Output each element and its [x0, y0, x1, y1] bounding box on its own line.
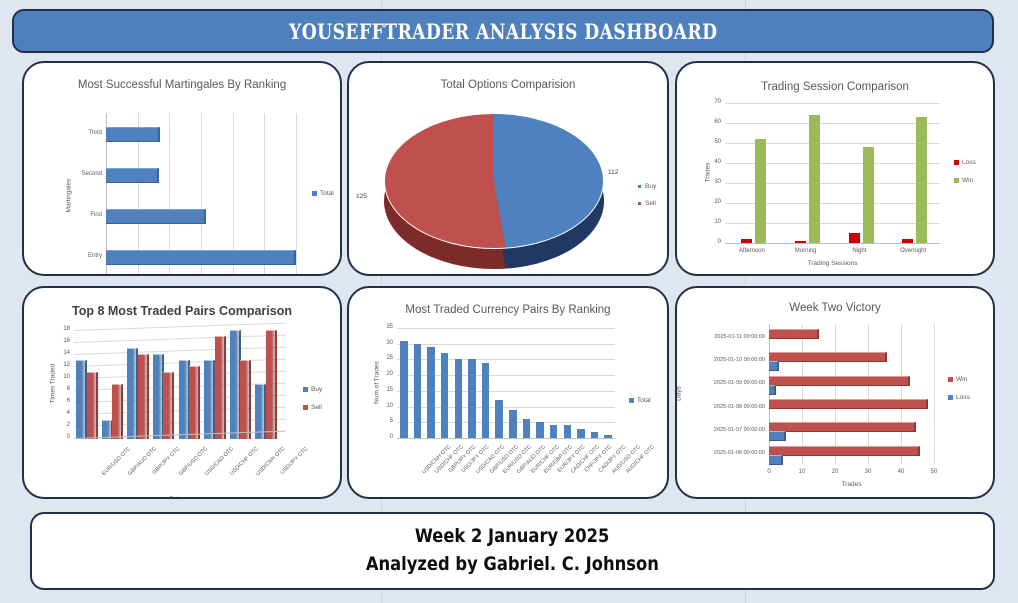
y-axis-tick: 2025-01-08 00:00:00	[681, 404, 765, 410]
y-axis-tick: 18	[54, 326, 70, 332]
pie-top-face	[384, 113, 604, 249]
chart-gridline	[74, 323, 286, 331]
x-axis-title: Trades	[769, 481, 934, 488]
bar-usd-cnh-otc-sell	[240, 360, 251, 439]
y-axis-title: Num of Trades	[374, 351, 381, 415]
y-axis-tick: 30	[377, 340, 393, 346]
chart-title-week-two: Week Two Victory	[677, 302, 993, 314]
legend-label: Total	[320, 190, 334, 197]
x-axis-tick: 30	[860, 469, 876, 475]
y-axis-title: Trades	[705, 142, 712, 204]
dashboard-header: YousefFtrader Analysis Dashboard	[12, 9, 994, 53]
legend-label: Buy	[311, 386, 322, 393]
legend-swatch	[954, 178, 959, 183]
chart-legend: LossWin	[954, 159, 976, 195]
y-axis-tick: 2025-01-07 00:00:00	[681, 427, 765, 433]
panel-ranking-chart: Most Traded Currency Pairs By Ranking 05…	[347, 286, 669, 499]
chart-title-options: Total Options Comparision	[349, 79, 667, 91]
x-axis-tick: 0	[761, 469, 777, 475]
bar-eur-usd-otc	[482, 363, 489, 438]
chart-legend: Total	[312, 190, 334, 204]
legend-swatch	[948, 377, 953, 382]
bar-chf-jpy-otc	[564, 425, 571, 438]
bar-first	[106, 209, 206, 224]
y-axis-tick: 16	[54, 338, 70, 344]
bar-gbp-usd-otc-buy	[153, 354, 164, 439]
bar-eur-gbp-otc	[523, 419, 530, 438]
legend-item-win: Win	[948, 376, 970, 383]
chart-gridline	[725, 103, 940, 104]
y-axis-tick: 2	[54, 422, 70, 428]
legend-item-loss: Loss	[948, 394, 970, 401]
panel-top8-pairs-chart: Top 8 Most Traded Pairs Comparison 02468…	[22, 286, 342, 499]
y-axis-tick: 2025-01-06 00:00:00	[681, 450, 765, 456]
legend-swatch	[629, 398, 634, 403]
bar-entry	[106, 250, 296, 265]
legend-swatch	[303, 387, 308, 392]
legend-swatch	[954, 160, 959, 165]
bar-2025-01-08-win	[769, 399, 928, 409]
y-axis-tick: Third	[62, 130, 102, 136]
bar-night-win	[863, 147, 874, 243]
legend-label: Loss	[956, 394, 970, 401]
y-axis-tick: 10	[705, 219, 721, 225]
chart-gridline	[74, 335, 286, 343]
y-axis-title: Martingales	[66, 160, 73, 230]
legend-label: Win	[956, 376, 967, 383]
x-axis-tick: 20	[827, 469, 843, 475]
chart-gridline	[835, 324, 836, 464]
legend-label: Loss	[962, 159, 976, 166]
legend-item-buy: Buy	[303, 386, 322, 393]
chart-gridline	[802, 324, 803, 464]
bar-cad-jpy-otc	[577, 429, 584, 438]
x-axis-title: Pairs	[74, 496, 279, 499]
legend-item-win: Win	[954, 177, 976, 184]
bar-usd-chf-otc-buy	[204, 360, 215, 439]
bar-2025-01-07-loss	[769, 431, 786, 441]
bar-usd-cnh-otc-buy	[230, 330, 241, 439]
bar-gbp-usd-otc	[468, 359, 475, 438]
y-axis-tick: 70	[705, 99, 721, 105]
legend-swatch	[303, 405, 308, 410]
legend-item-total: Total	[629, 397, 651, 404]
legend-item-loss: Loss	[954, 159, 976, 166]
bar-night-loss	[849, 233, 860, 243]
legend-item-sell: Sell	[303, 404, 322, 411]
bar-usd-chf-otc	[414, 344, 421, 438]
chart-gridline	[868, 324, 869, 464]
legend-label: Sell	[645, 200, 656, 207]
chart-title-martingales: Most Successful Martingales By Ranking	[24, 79, 340, 91]
x-axis-tick: Afternoon	[725, 248, 779, 254]
chart-legend: WinLoss	[948, 376, 970, 412]
chart-gridline	[901, 324, 902, 464]
x-axis-tick: Overnight	[886, 248, 940, 254]
y-axis-title: Days	[676, 372, 683, 416]
chart-title-sessions: Trading Session Comparison	[677, 81, 993, 93]
y-axis-tick: 0	[377, 434, 393, 440]
x-axis-line	[397, 438, 615, 439]
chart-gridline	[725, 123, 940, 124]
chart-gridline	[397, 328, 615, 329]
pie-chart	[384, 113, 604, 269]
y-axis-tick: 35	[377, 324, 393, 330]
bar-morning-win	[809, 115, 820, 243]
bar-overnight-win	[916, 117, 927, 243]
y-axis-tick: 0	[54, 434, 70, 440]
legend-label: Sell	[311, 404, 322, 411]
chart-gridline	[397, 344, 615, 345]
y-axis-tick: 0	[705, 239, 721, 245]
bar-usd-cad-otc-buy	[179, 360, 190, 439]
bar-cad-chf-otc	[550, 425, 557, 438]
x-axis-tick: Morning	[779, 248, 833, 254]
bar-second	[106, 168, 159, 183]
x-axis-line	[725, 243, 940, 244]
legend-item-sell: Sell	[638, 200, 656, 207]
bar-eur-usd-otc-sell	[87, 372, 98, 439]
bar-usd-jpy-otc	[441, 353, 448, 438]
x-axis-tick: 10	[794, 469, 810, 475]
footer-author: Analyzed by Gabriel. C. Johnson	[366, 551, 659, 579]
bar-usd-cad-otc-sell	[189, 366, 200, 439]
x-axis-title: Currency Pairs	[397, 498, 615, 499]
legend-swatch	[638, 185, 641, 188]
bar-gbp-aud-otc	[495, 400, 502, 438]
bar-usd-cnh-otc	[400, 341, 407, 438]
legend-swatch	[948, 395, 953, 400]
y-axis-tick: Entry	[62, 253, 102, 259]
y-axis-tick: 60	[705, 119, 721, 125]
bar-2025-01-06-win	[769, 446, 920, 456]
y-axis-tick: 2025-01-09 00:00:00	[681, 380, 765, 386]
y-axis-tick: 2025-01-10 00:00:00	[681, 357, 765, 363]
bar-third	[106, 127, 160, 142]
bar-usd-chf-otc-sell	[215, 336, 226, 439]
y-axis-title: Times Traded	[50, 353, 57, 415]
panel-martingales-chart: Most Successful Martingales By Ranking 0…	[22, 61, 342, 276]
chart-legend: BuySell	[638, 183, 656, 217]
bar-eur-jpy-otc	[536, 422, 543, 438]
bar-eur-chf-otc	[509, 410, 516, 438]
panel-footer: Week 2 January 2025 Analyzed by Gabriel.…	[30, 512, 995, 590]
bar-gbp-jpy-otc-sell	[138, 354, 149, 439]
bar-usd-jpy-otc-sell	[266, 330, 277, 439]
bar-2025-01-07-win	[769, 422, 916, 432]
x-axis-tick: 40	[893, 469, 909, 475]
chart-gridline	[74, 347, 286, 355]
legend-label: Total	[637, 397, 651, 404]
x-axis-tick: 50	[926, 469, 942, 475]
bar-afternoon-win	[755, 139, 766, 243]
bar-gbp-jpy-otc	[427, 347, 434, 438]
y-axis-tick: 5	[377, 418, 393, 424]
chart-gridline	[934, 324, 935, 464]
bar-2025-01-10-win	[769, 352, 887, 362]
legend-label: Buy	[645, 183, 656, 190]
bar-2025-01-11-win	[769, 329, 819, 339]
legend-swatch	[312, 191, 317, 196]
legend-label: Win	[962, 177, 973, 184]
legend-item-buy: Buy	[638, 183, 656, 190]
bar-2025-01-09-loss	[769, 385, 776, 395]
x-axis-title: Trading Sessions	[725, 260, 940, 267]
chart-legend: BuySell	[303, 386, 322, 422]
bar-gbp-jpy-otc-buy	[127, 348, 138, 439]
bar-2025-01-09-win	[769, 376, 910, 386]
bar-usd-cad-otc	[455, 359, 462, 438]
footer-period: Week 2 January 2025	[415, 523, 609, 551]
bar-2025-01-06-loss	[769, 455, 783, 465]
pie-datalabel-sell: 125	[356, 193, 367, 200]
bar-gbp-usd-otc-sell	[163, 372, 174, 439]
x-axis-tick: Night	[833, 248, 887, 254]
legend-item-total: Total	[312, 190, 334, 197]
bar-eur-usd-otc-buy	[76, 360, 87, 439]
panel-sessions-chart: Trading Session Comparison 0102030405060…	[675, 61, 995, 276]
y-axis-tick: 2025-01-11 00:00:00	[681, 334, 765, 340]
pie-datalabel-buy: 112	[608, 169, 618, 176]
legend-swatch	[638, 202, 641, 205]
bar-gbp-aud-otc-sell	[112, 384, 123, 439]
panel-week-two-chart: Week Two Victory 010203040502025-01-06 0…	[675, 286, 995, 499]
chart-title-ranking: Most Traded Currency Pairs By Ranking	[349, 304, 667, 316]
page-title: YousefFtrader Analysis Dashboard	[289, 19, 717, 44]
chart-legend: Total	[629, 397, 651, 411]
bar-2025-01-10-loss	[769, 361, 779, 371]
panel-options-pie: Total Options Comparision 112125BuySell	[347, 61, 669, 276]
chart-title-top8: Top 8 Most Traded Pairs Comparison	[24, 304, 340, 318]
